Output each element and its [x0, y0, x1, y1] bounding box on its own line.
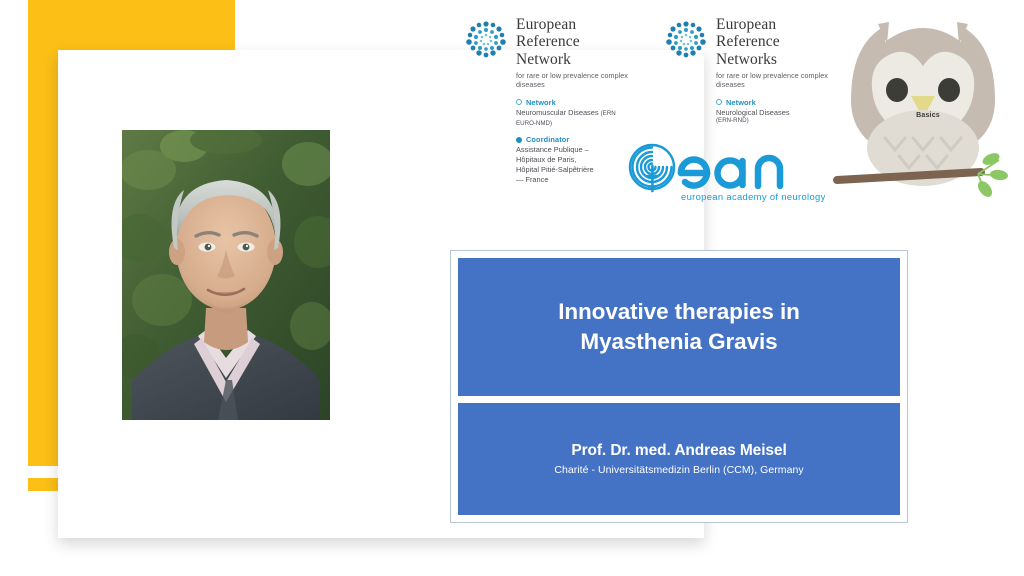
owl-mascot-logo: Basics [823, 4, 1023, 210]
yellow-bracket-stub [28, 478, 58, 491]
ern-network-value: Neuromuscular Diseases [516, 108, 599, 117]
ern-coordinator-line-2: Hôpitaux de Paris, [516, 155, 628, 165]
ern-euro-nmd-logo: European Reference Network for rare or l… [463, 16, 628, 191]
ern-wordmark-line-3: Network [516, 51, 628, 68]
presentation-title-card: Innovative therapies in Myasthenia Gravi… [450, 250, 908, 523]
coordinator-dot-icon [516, 137, 522, 143]
ern-wordmark-line-3: Networks [716, 51, 828, 68]
network-dot-icon [516, 99, 522, 105]
speaker-name: Prof. Dr. med. Andreas Meisel [571, 442, 786, 460]
ern-coordinator-line-1: Assistance Publique – [516, 145, 628, 155]
ean-tagline-text: european academy of neurology [681, 191, 825, 202]
ern-coordinator-line-4: — France [516, 175, 628, 185]
owl-basics-label: Basics [907, 112, 949, 119]
ern-wordmark-line-1: European [716, 16, 828, 33]
ern-coordinator-row: Coordinator Assistance Publique – Hôpita… [516, 135, 628, 184]
title-panel: Innovative therapies in Myasthenia Gravi… [458, 258, 900, 396]
ern-dot-spiral-icon [463, 16, 509, 62]
ern-wordmark-line-2: Reference [516, 33, 628, 50]
speaker-affiliation: Charité - Universitätsmedizin Berlin (CC… [554, 464, 803, 476]
speaker-panel: Prof. Dr. med. Andreas Meisel Charité - … [458, 403, 900, 515]
ern-network-row: Network Neuromuscular Diseases (ERN EURO… [516, 98, 628, 129]
ern-network-label: Network [526, 98, 556, 107]
slide-canvas: European Reference Network for rare or l… [0, 0, 1024, 576]
ern-tagline: for rare or low prevalence complex disea… [516, 71, 628, 89]
title-line-2: Myasthenia Gravis [580, 327, 777, 357]
ern-dot-spiral-icon [663, 16, 709, 62]
yellow-bracket-left [28, 0, 58, 466]
ern-network-code: (ERN-RND) [716, 117, 828, 125]
ern-wordmark: European Reference Network for rare or l… [516, 16, 628, 90]
speaker-portrait-photo [122, 130, 330, 420]
yellow-bracket-top [28, 0, 235, 50]
ern-coordinator-line-3: Hôpital Pitié-Salpêtrière [516, 165, 628, 175]
logo-strip: European Reference Network for rare or l… [455, 8, 1024, 213]
panel-divider [458, 396, 900, 403]
title-line-1: Innovative therapies in [558, 297, 800, 327]
ern-coordinator-label: Coordinator [526, 135, 569, 144]
network-dot-icon [716, 99, 722, 105]
ern-wordmark-line-1: European [516, 16, 628, 33]
ern-network-value: Neurological Diseases [716, 108, 828, 118]
ern-rnd-logo: European Reference Networks for rare or … [663, 16, 828, 133]
ean-logo: european academy of neurology [625, 143, 825, 205]
ern-network-row: Network Neurological Diseases (ERN-RND) [716, 98, 828, 126]
ern-wordmark: European Reference Networks for rare or … [716, 16, 828, 90]
ern-network-label: Network [726, 98, 756, 107]
ern-wordmark-line-2: Reference [716, 33, 828, 50]
ern-tagline: for rare or low prevalence complex disea… [716, 71, 828, 89]
